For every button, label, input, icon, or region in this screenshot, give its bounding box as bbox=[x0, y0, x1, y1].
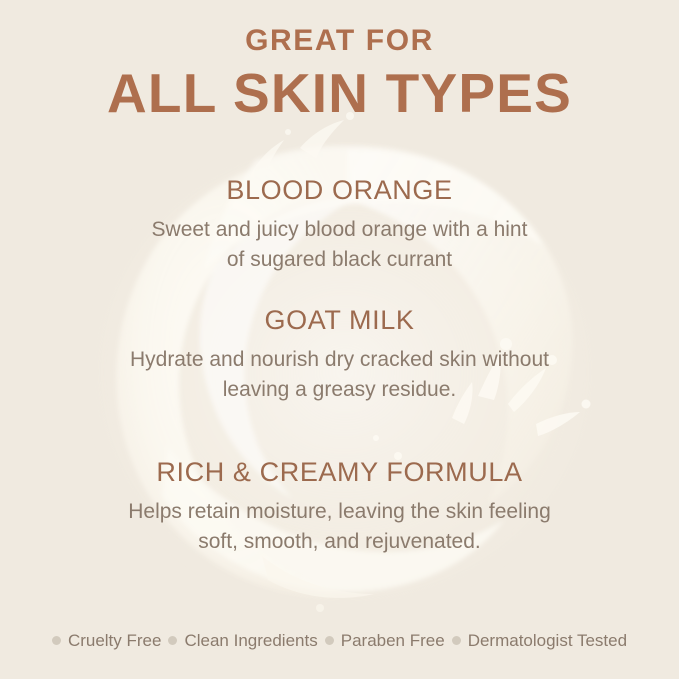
badge-label: Dermatologist Tested bbox=[468, 632, 627, 649]
section-body-line: leaving a greasy residue. bbox=[60, 375, 620, 405]
badge-label: Clean Ingredients bbox=[184, 632, 317, 649]
badge-dermatologist-tested: Dermatologist Tested bbox=[445, 632, 627, 649]
section-body-line: Helps retain moisture, leaving the skin … bbox=[60, 497, 620, 527]
product-feature-graphic: GREAT FOR ALL SKIN TYPES BLOOD ORANGE Sw… bbox=[0, 0, 679, 679]
badge-cruelty-free: Cruelty Free bbox=[52, 632, 162, 649]
section-blood-orange: BLOOD ORANGE Sweet and juicy blood orang… bbox=[0, 176, 679, 274]
headline-line-1: GREAT FOR bbox=[0, 24, 679, 57]
section-body-blood-orange: Sweet and juicy blood orange with a hint… bbox=[60, 215, 620, 275]
section-body-line: Sweet and juicy blood orange with a hint bbox=[60, 215, 620, 245]
section-title-blood-orange: BLOOD ORANGE bbox=[0, 176, 679, 206]
section-body-goat-milk: Hydrate and nourish dry cracked skin wit… bbox=[60, 345, 620, 405]
badge-paraben-free: Paraben Free bbox=[318, 632, 445, 649]
badge-label: Cruelty Free bbox=[68, 632, 162, 649]
section-body-line: Hydrate and nourish dry cracked skin wit… bbox=[60, 345, 620, 375]
bullet-dot-icon bbox=[325, 636, 334, 645]
badge-label: Paraben Free bbox=[341, 632, 445, 649]
bullet-dot-icon bbox=[452, 636, 461, 645]
content-layer: GREAT FOR ALL SKIN TYPES BLOOD ORANGE Sw… bbox=[0, 0, 679, 679]
bullet-dot-icon bbox=[52, 636, 61, 645]
section-title-formula: RICH & CREAMY FORMULA bbox=[0, 458, 679, 488]
section-rich-creamy-formula: RICH & CREAMY FORMULA Helps retain moist… bbox=[0, 458, 679, 556]
section-body-formula: Helps retain moisture, leaving the skin … bbox=[60, 497, 620, 557]
section-goat-milk: GOAT MILK Hydrate and nourish dry cracke… bbox=[0, 306, 679, 404]
section-body-line: soft, smooth, and rejuvenated. bbox=[60, 527, 620, 557]
bullet-dot-icon bbox=[168, 636, 177, 645]
badge-clean-ingredients: Clean Ingredients bbox=[161, 632, 317, 649]
footer-badge-row: Cruelty Free Clean Ingredients Paraben F… bbox=[0, 632, 679, 649]
headline-block: GREAT FOR ALL SKIN TYPES bbox=[0, 24, 679, 125]
page-title: ALL SKIN TYPES bbox=[0, 63, 679, 125]
section-body-line: of sugared black currant bbox=[60, 245, 620, 275]
section-title-goat-milk: GOAT MILK bbox=[0, 306, 679, 336]
